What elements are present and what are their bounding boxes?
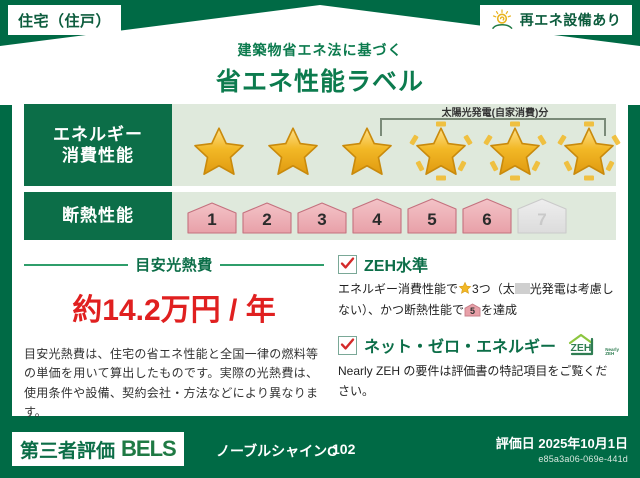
star-6 [554,120,624,182]
zeh-column: ZEH水準 エネルギー消費性能で3つ（太光発電は考慮しない）、かつ断熱性能で5を… [324,248,616,406]
insulation-level-4: 4 [351,197,403,235]
utility-cost-heading: 目安光熱費 [24,254,324,275]
bottom-columns: 目安光熱費 約14.2万円 / 年 目安光熱費は、住宅の省エネ性能と全国一律の燃… [24,248,616,406]
zeh-standard-heading: ZEH水準 [338,252,616,276]
inline-star-icon [458,281,472,301]
star-1 [184,120,254,182]
renewable-badge-label: 再エネ設備あり [520,10,622,30]
insulation-performance-row: 断熱性能 1234567 [24,192,616,240]
star-icon [561,124,617,180]
zeh-netzero-checkbox[interactable] [338,336,357,355]
star-5 [480,120,550,182]
zeh-standard-text-part1: エネルギー消費性能で [338,282,458,296]
masked-text-block [515,283,530,294]
zeh-standard-title: ZEH水準 [364,252,428,276]
insulation-levels-panel: 1234567 [172,192,616,240]
insulation-level-5: 5 [406,197,458,235]
insulation-level-value: 5 [427,210,436,235]
insulation-level-6: 6 [461,197,513,235]
renewable-equipment-badge: 再エネ設備あり [480,5,632,35]
utility-cost-value: 約14.2万円 / 年 [24,285,324,329]
zeh-netzero-title: ネット・ゼロ・エネルギー [364,333,556,357]
evaluation-date: 評価日 2025年10月1日 [496,433,628,452]
page-title: 省エネ性能ラベル [0,62,640,98]
insulation-performance-label: 断熱性能 [24,192,172,240]
insulation-label-text: 断熱性能 [62,205,134,226]
star-rating [172,104,616,186]
evaluation-id: e85a3a06-069e-441d [538,454,628,464]
insulation-level-3: 3 [296,197,348,235]
utility-cost-note: 目安光熱費は、住宅の省エネ性能と全国一律の燃料等の単価を用いて算出したものです。… [24,345,324,423]
header-subtitle: 建築物省エネ法に基づく [0,40,640,60]
energy-performance-row: エネルギー 消費性能 太陽光発電(自家消費)分 [24,104,616,186]
zeh-standard-text: エネルギー消費性能で3つ（太光発電は考慮しない）、かつ断熱性能で5を達成 [338,280,616,320]
insulation-level-scale: 1234567 [172,192,616,240]
housing-type-badge: 住宅（住戸） [8,5,121,35]
star-icon [191,124,247,180]
header-text-group: 建築物省エネ法に基づく 省エネ性能ラベル [0,40,640,98]
bels-en-text: BELS [121,436,176,462]
zeh-netzero-heading: ネット・ゼロ・エネルギー ZEH NearlyZEH [338,332,616,358]
footer: 第三者評価 BELS ノーブルシャインC 102 評価日 2025年10月1日 … [0,422,640,478]
inline-insulation-badge-value: 5 [464,304,481,318]
insulation-level-value: 7 [537,210,546,235]
energy-stars-panel: 太陽光発電(自家消費)分 [172,104,616,186]
insulation-level-2: 2 [241,197,293,235]
building-name: ノーブルシャインC [216,441,337,461]
energy-performance-label: エネルギー 消費性能 [24,104,172,186]
rule-left [24,264,128,266]
star-icon [413,124,469,180]
utility-cost-heading-text: 目安光熱費 [135,254,213,275]
star-icon [487,124,543,180]
rule-right [220,264,324,266]
utility-cost-column: 目安光熱費 約14.2万円 / 年 目安光熱費は、住宅の省エネ性能と全国一律の燃… [24,248,324,406]
zeh-standard-block: ZEH水準 エネルギー消費性能で3つ（太光発電は考慮しない）、かつ断熱性能で5を… [338,252,616,320]
main-card: エネルギー 消費性能 太陽光発電(自家消費)分 断熱性能 1234567 [12,96,628,416]
bels-jp-text: 第三者評価 [20,436,115,463]
zeh-netzero-block: ネット・ゼロ・エネルギー ZEH NearlyZEH Nearly ZEH の要… [338,332,616,400]
energy-performance-label: 建築物省エネ法に基づく 省エネ性能ラベル 住宅（住戸） 再エネ設備あり [0,0,640,478]
star-icon [265,124,321,180]
zeh-netzero-text: Nearly ZEH の要件は評価書の特記項目をご覧ください。 [338,362,616,400]
energy-label-line2: 消費性能 [62,145,134,166]
insulation-level-7: 7 [516,197,568,235]
inline-insulation-badge: 5 [464,303,481,317]
energy-label-line1: エネルギー [53,124,143,145]
zeh-standard-checkbox[interactable] [338,255,357,274]
sun-icon [491,9,515,31]
zeh-logo-sub: NearlyZEH [605,348,619,358]
insulation-level-value: 3 [317,210,326,235]
insulation-level-value: 4 [372,210,381,235]
insulation-level-value: 6 [482,210,491,235]
zeh-logo-icon: ZEH NearlyZEH [567,332,607,358]
insulation-level-value: 2 [262,210,271,235]
room-number: 102 [332,441,355,457]
svg-text:ZEH: ZEH [571,342,592,354]
insulation-level-value: 1 [207,210,216,235]
star-2 [258,120,328,182]
insulation-level-1: 1 [186,197,238,235]
bels-logo: 第三者評価 BELS [12,432,184,466]
star-icon [339,124,395,180]
star-4 [406,120,476,182]
zeh-standard-text-part3: を達成 [481,303,517,317]
zeh-standard-text-star: 3つ（太 [472,282,515,296]
star-3 [332,120,402,182]
housing-type-label: 住宅（住戸） [18,10,111,31]
